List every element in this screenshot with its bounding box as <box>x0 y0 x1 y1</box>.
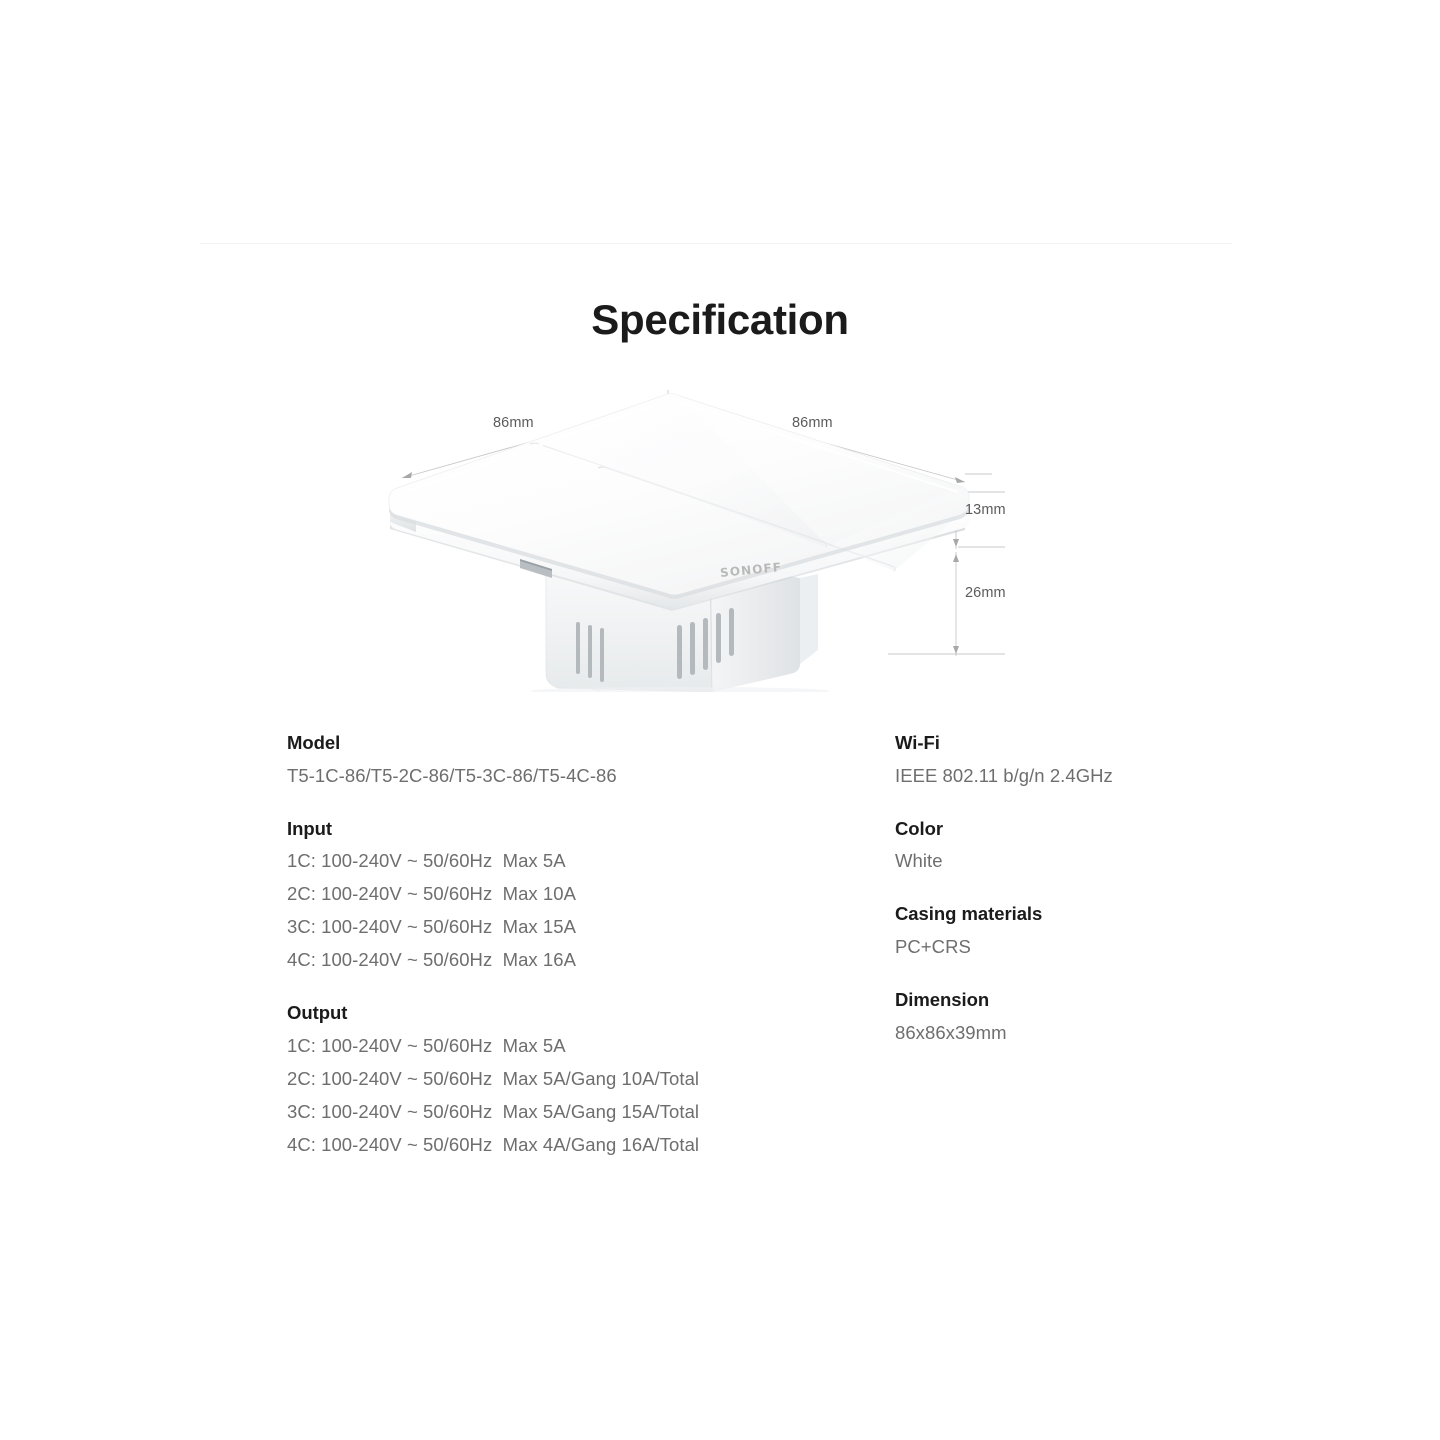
spec-column-right: Wi-Fi IEEE 802.11 b/g/n 2.4GHz Color Whi… <box>895 729 1315 1050</box>
section-divider <box>200 243 1232 244</box>
spec-value-output-1: 2C: 100-240V ~ 50/60Hz Max 5A/Gang 10A/T… <box>287 1063 847 1096</box>
spec-label-dimension: Dimension <box>895 986 1315 1014</box>
page-title: Specification <box>0 296 1440 344</box>
spec-group-dimension: Dimension 86x86x39mm <box>895 986 1315 1050</box>
spec-value-casing-materials-0: PC+CRS <box>895 931 1315 964</box>
dimension-label-panel-thickness: 13mm <box>965 502 1006 518</box>
spec-label-casing-materials: Casing materials <box>895 900 1315 928</box>
spec-group-model: Model T5-1C-86/T5-2C-86/T5-3C-86/T5-4C-8… <box>287 729 847 793</box>
spec-label-model: Model <box>287 729 847 757</box>
spec-value-output-0: 1C: 100-240V ~ 50/60Hz Max 5A <box>287 1030 847 1063</box>
spec-value-output-3: 4C: 100-240V ~ 50/60Hz Max 4A/Gang 16A/T… <box>287 1129 847 1162</box>
specification-page: Specification <box>0 0 1440 1440</box>
spec-group-input: Input 1C: 100-240V ~ 50/60Hz Max 5A 2C: … <box>287 815 847 977</box>
spec-label-input: Input <box>287 815 847 843</box>
spec-label-color: Color <box>895 815 1315 843</box>
spec-value-input-3: 4C: 100-240V ~ 50/60Hz Max 16A <box>287 944 847 977</box>
dimension-label-back-box-depth: 26mm <box>965 585 1006 601</box>
dimension-label-width-left: 86mm <box>493 415 534 431</box>
spec-label-output: Output <box>287 999 847 1027</box>
spec-column-left: Model T5-1C-86/T5-2C-86/T5-3C-86/T5-4C-8… <box>287 729 847 1162</box>
spec-value-input-2: 3C: 100-240V ~ 50/60Hz Max 15A <box>287 911 847 944</box>
dimension-label-width-right: 86mm <box>792 415 833 431</box>
spec-group-color: Color White <box>895 815 1315 879</box>
spec-value-input-1: 2C: 100-240V ~ 50/60Hz Max 10A <box>287 878 847 911</box>
spec-value-color-0: White <box>895 845 1315 878</box>
switch-top-plate <box>389 394 969 599</box>
spec-group-output: Output 1C: 100-240V ~ 50/60Hz Max 5A 2C:… <box>287 999 847 1161</box>
spec-value-input-0: 1C: 100-240V ~ 50/60Hz Max 5A <box>287 845 847 878</box>
spec-label-wifi: Wi-Fi <box>895 729 1315 757</box>
spec-group-casing-materials: Casing materials PC+CRS <box>895 900 1315 964</box>
product-illustration: 86mm 86mm 13mm 26mm SONOFF <box>380 382 1020 692</box>
spec-value-dimension-0: 86x86x39mm <box>895 1017 1315 1050</box>
spec-group-wifi: Wi-Fi IEEE 802.11 b/g/n 2.4GHz <box>895 729 1315 793</box>
spec-value-model-0: T5-1C-86/T5-2C-86/T5-3C-86/T5-4C-86 <box>287 760 847 793</box>
spec-value-wifi-0: IEEE 802.11 b/g/n 2.4GHz <box>895 760 1315 793</box>
spec-value-output-2: 3C: 100-240V ~ 50/60Hz Max 5A/Gang 15A/T… <box>287 1096 847 1129</box>
